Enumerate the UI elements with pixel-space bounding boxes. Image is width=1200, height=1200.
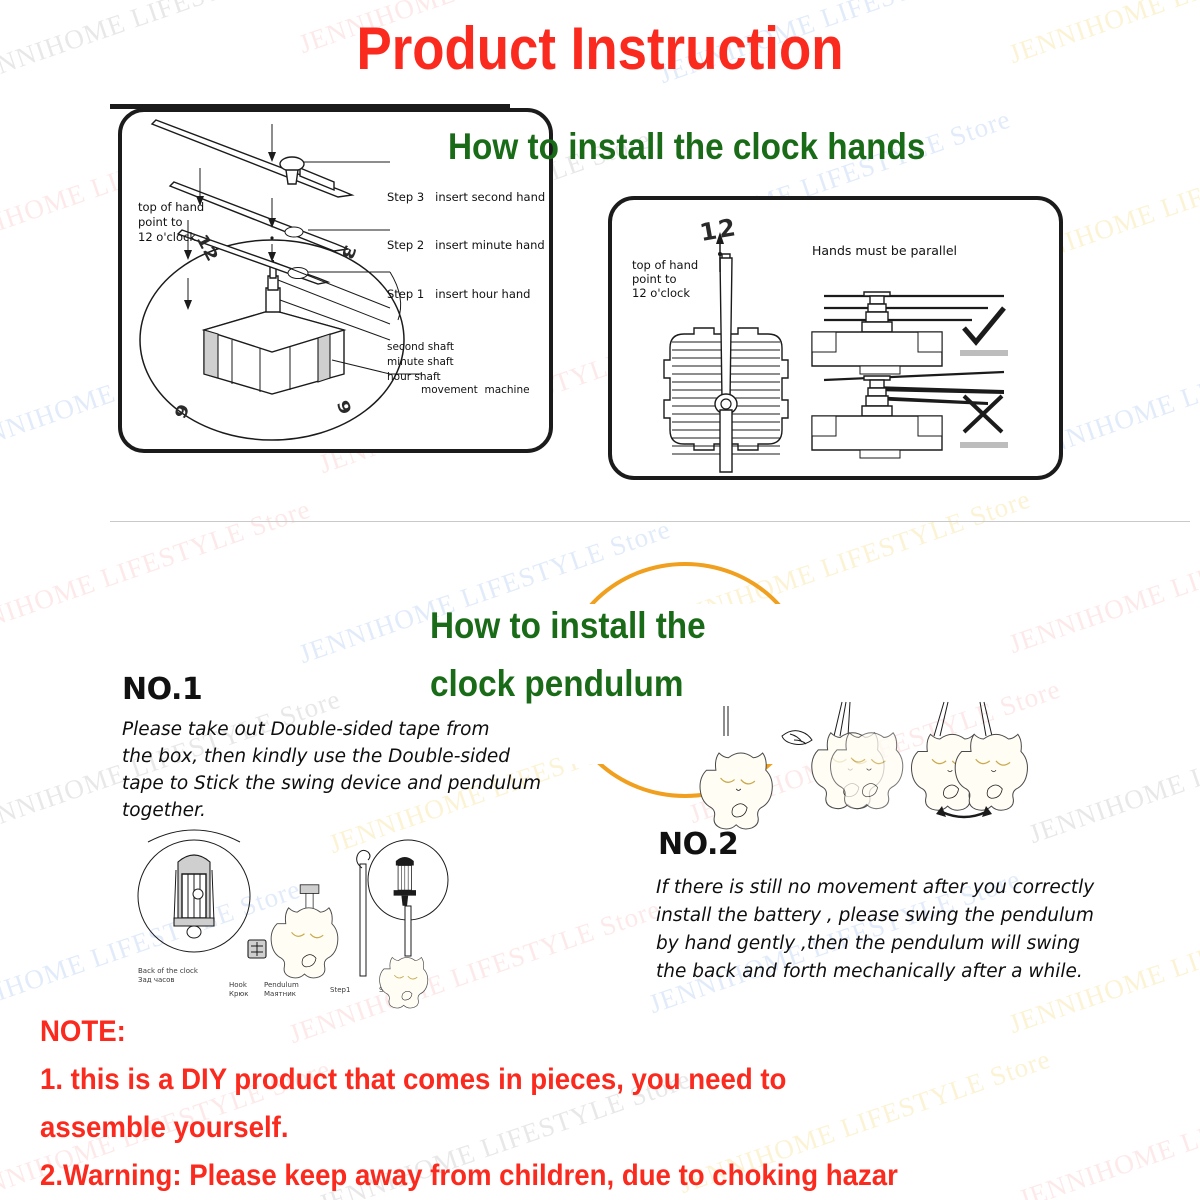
page-title: Product Instruction [72,14,1128,83]
no2-text-line1: If there is still no movement after you … [656,875,1094,901]
label-hour-shaft: hour shaft [387,371,441,385]
label-12-oclock-left: 12 o'clock [138,230,196,245]
watermark: JENNIHOME LIFESTYLE Store [1005,504,1200,661]
diagram-panel-hands-parallel [608,196,1063,480]
label-12-oclock-right: 12 o'clock [632,286,690,301]
note-heading: NOTE: [40,1015,126,1049]
heading-install-clock-hands: How to install the clock hands [448,126,925,168]
label-step-2: Step 2 insert minute hand [387,238,545,253]
heading-install-pendulum-line2: clock pendulum [430,663,683,705]
product-instruction-page: Product Instruction How to install the c… [0,0,1200,1200]
note-item1-line1: 1. this is a DIY product that comes in p… [40,1063,786,1097]
note-item2: 2.Warning: Please keep away from childre… [40,1159,898,1193]
no2-text-line2: install the battery , please swing the p… [656,903,1094,929]
no1-label: NO.1 [122,672,202,707]
no1-text-line2: the box, then kindly use the Double-side… [122,744,510,770]
label-top-of-hand-right: top of hand [632,258,698,273]
label-minute-shaft: minute shaft [387,356,454,370]
section-divider [110,521,1190,522]
note-item1-line2: assemble yourself. [40,1111,289,1145]
label-point-to-right: point to [632,272,677,287]
no1-text-line4: together. [122,798,206,824]
no2-text-line3: by hand gently ,then the pendulum will s… [656,931,1080,957]
svg-text:6: 6 [334,397,356,416]
title-underline-rule [110,104,510,109]
label-step-1: Step 1 insert hour hand [387,287,531,302]
no2-text-line4: the back and forth mechanically after a … [656,959,1083,985]
label-top-of-hand-left: top of hand [138,200,204,215]
watermark: JENNIHOME LIFESTYLE Store [0,494,315,651]
watermark: JENNIHOME LIFESTYLE Store [1025,694,1200,851]
label-movement-machine: movement machine [421,384,530,398]
no1-text-line1: Please take out Double-sided tape from [122,717,489,743]
heading-install-pendulum-line1: How to install the [430,605,706,647]
movement-parallel-svg [612,200,1059,476]
no2-label: NO.2 [658,827,738,862]
label-second-shaft: second shaft [387,341,454,355]
label-hands-must-be-parallel: Hands must be parallel [812,243,957,260]
label-point-to-left: point to [138,215,183,230]
pendulum-parts-diagram [130,834,460,1004]
no1-text-line3: tape to Stick the swing device and pendu… [122,771,541,797]
label-dial-12-right: 12 [698,212,740,250]
label-step-3: Step 3 insert second hand [387,190,545,205]
pendulum-swing-illustrations [680,700,1030,830]
watermark: JENNIHOME LIFESTYLE Store [1015,1059,1200,1200]
